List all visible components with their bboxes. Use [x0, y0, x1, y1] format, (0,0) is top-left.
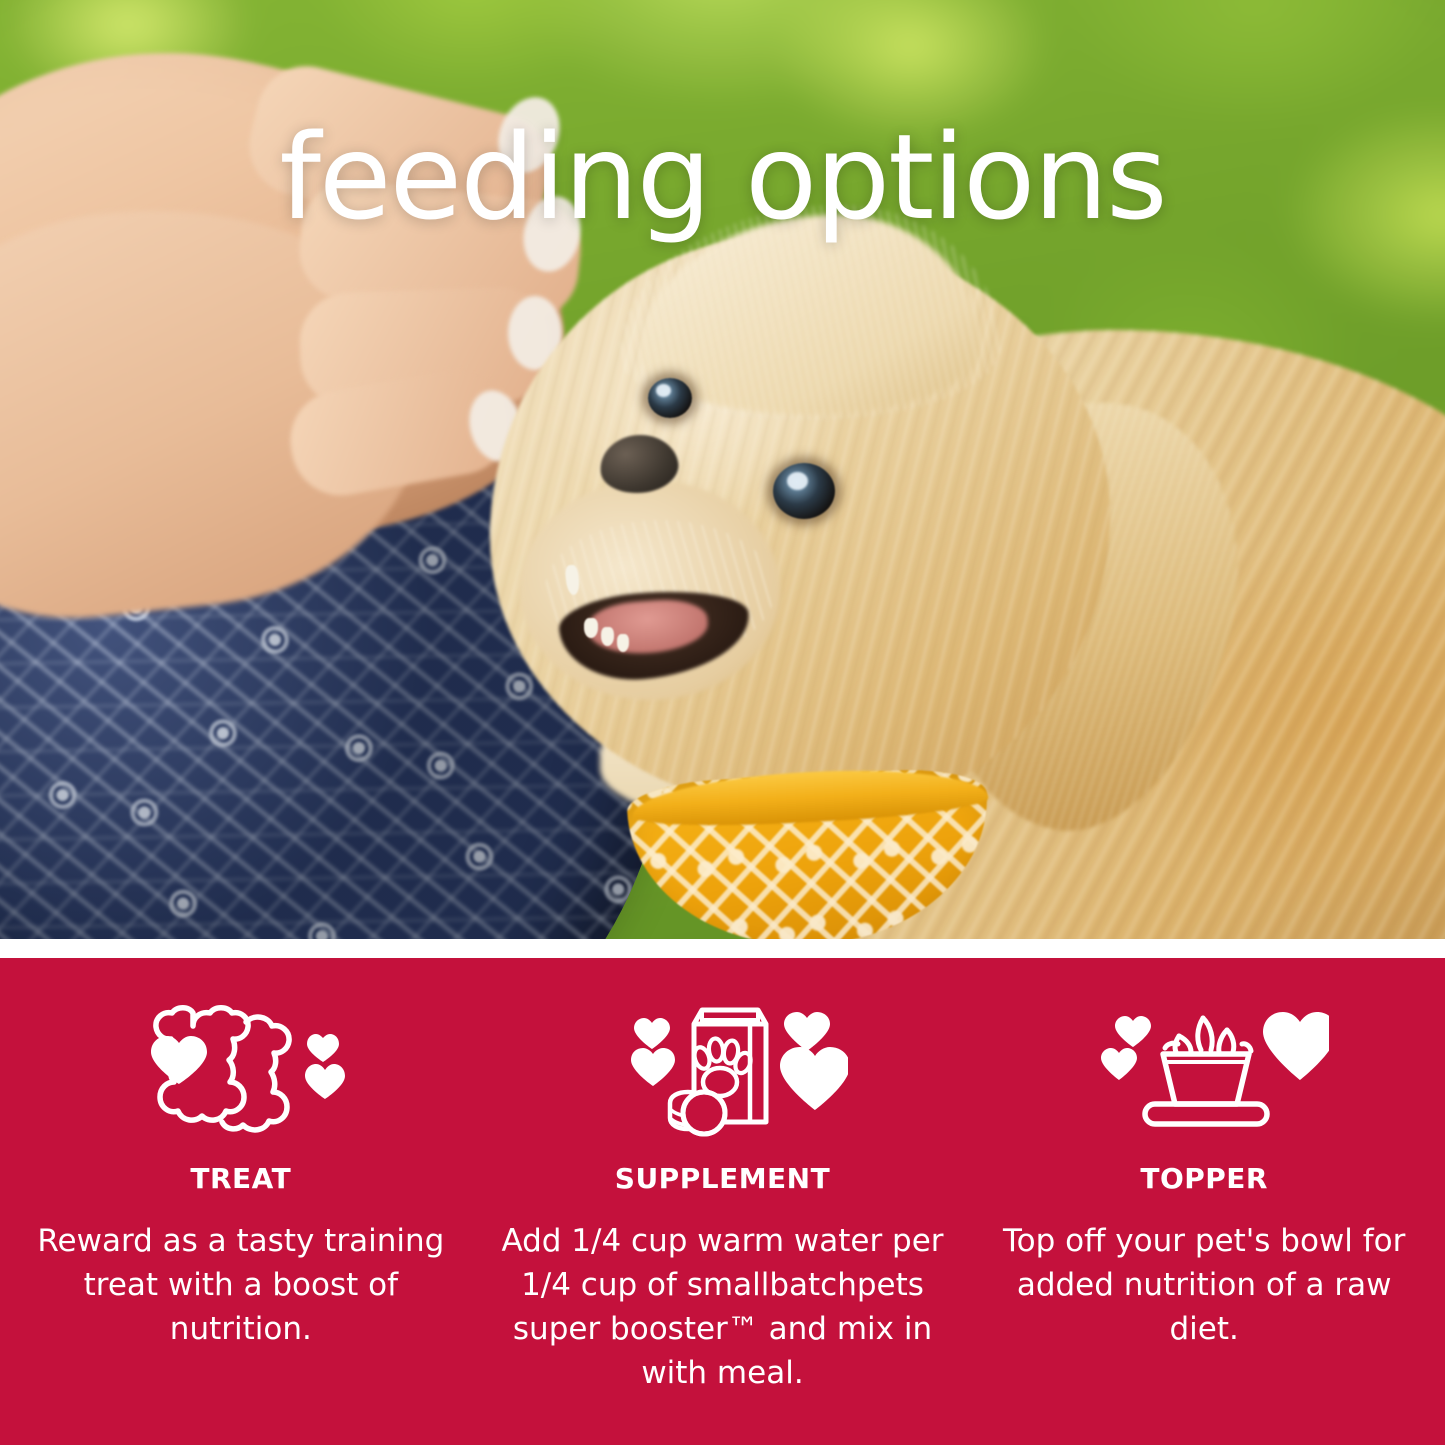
- dog-tooth: [617, 634, 629, 652]
- supplement-bag-icon: [593, 1000, 853, 1140]
- option-description-topper: Top off your pet's bowl for added nutrit…: [989, 1219, 1419, 1351]
- option-title-topper: TOPPER: [1140, 1162, 1268, 1195]
- feeding-options-infographic: feeding options TREAT Reward as a t: [0, 0, 1445, 1445]
- option-description-supplement: Add 1/4 cup warm water per 1/4 cup of sm…: [483, 1219, 963, 1395]
- dog-eye-highlight: [656, 384, 671, 397]
- option-description-treat: Reward as a tasty training treat with a …: [26, 1219, 456, 1351]
- option-column-treat: TREAT Reward as a tasty training treat w…: [0, 958, 482, 1351]
- dog-eye-highlight: [787, 472, 808, 490]
- page-title: feeding options: [0, 118, 1445, 236]
- option-column-topper: TOPPER Top off your pet's bowl for added…: [963, 958, 1445, 1351]
- option-title-treat: TREAT: [190, 1162, 291, 1195]
- dog-tooth: [584, 618, 598, 638]
- bone-icon: [111, 1000, 371, 1140]
- section-divider: [0, 939, 1445, 958]
- dog-eye-right: [773, 463, 835, 519]
- feeding-options-panel: TREAT Reward as a tasty training treat w…: [0, 958, 1445, 1445]
- dog-eye-left: [648, 378, 692, 418]
- option-column-supplement: SUPPLEMENT Add 1/4 cup warm water per 1/…: [482, 958, 964, 1395]
- food-bowl-icon: [1074, 1000, 1334, 1140]
- dog-tooth: [601, 627, 614, 646]
- option-title-supplement: SUPPLEMENT: [615, 1162, 830, 1195]
